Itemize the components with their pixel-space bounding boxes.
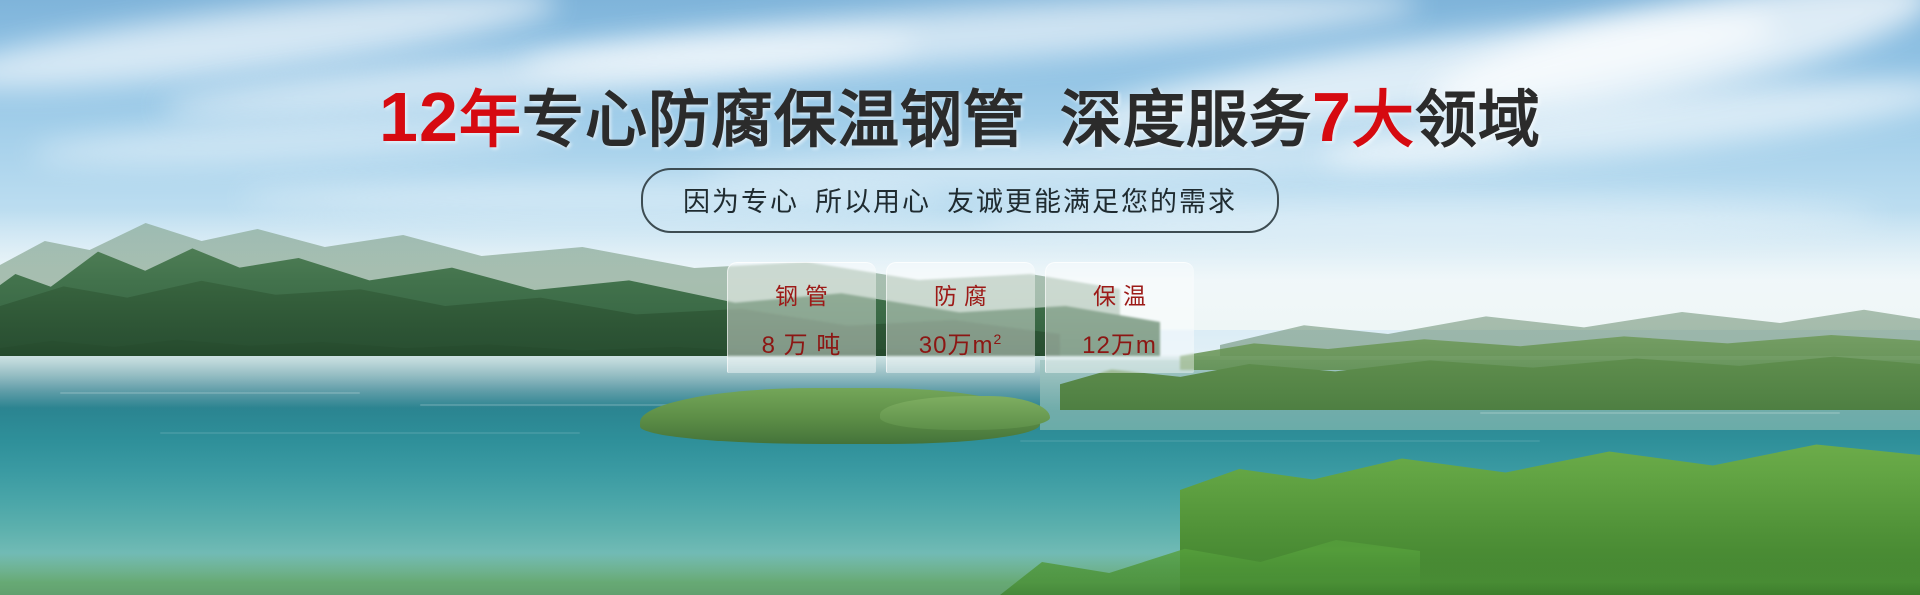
headline-fields-number: 7 — [1312, 78, 1352, 156]
stat-card-insulation: 保温 12万m — [1045, 262, 1194, 373]
headline-fields-text: 领域 — [1415, 86, 1541, 155]
headline-years-number: 12 — [379, 78, 459, 156]
stat-card-value-superscript: 2 — [993, 331, 1002, 347]
headline-years-unit: 年 — [459, 86, 522, 155]
headline-service-text: 深度服务 — [1060, 86, 1312, 155]
stat-card-label: 钢管 — [768, 277, 835, 311]
stat-card-value: 12万m — [1082, 325, 1157, 360]
stat-card-value-text: 30万m — [919, 332, 994, 359]
stat-card-label: 防腐 — [927, 277, 994, 311]
subtitle-part-2: 所以用心 — [815, 187, 931, 217]
stat-cards: 钢管 8 万 吨 防腐 30万m2 保温 12万m — [0, 262, 1920, 373]
subtitle-part-3: 友诚更能满足您的需求 — [947, 187, 1237, 217]
stat-card-value-text: 12万m — [1082, 332, 1157, 359]
headline: 12年专心防腐保温钢管深度服务7大领域 — [0, 82, 1920, 152]
stat-card-steel-pipe: 钢管 8 万 吨 — [727, 262, 876, 373]
stat-card-value-text: 8 万 吨 — [762, 332, 842, 359]
stat-card-label: 保温 — [1086, 277, 1153, 311]
subtitle-pill: 因为专心所以用心友诚更能满足您的需求 — [641, 168, 1279, 233]
subtitle-part-1: 因为专心 — [683, 187, 799, 217]
stat-card-anticorrosion: 防腐 30万m2 — [886, 262, 1035, 373]
headline-main-text: 专心防腐保温钢管 — [522, 86, 1026, 155]
stat-card-value: 30万m2 — [919, 325, 1002, 360]
subtitle-container: 因为专心所以用心友诚更能满足您的需求 — [0, 168, 1920, 233]
stat-card-value: 8 万 吨 — [762, 325, 842, 360]
banner-content: 12年专心防腐保温钢管深度服务7大领域 因为专心所以用心友诚更能满足您的需求 钢… — [0, 0, 1920, 595]
headline-fields-unit: 大 — [1352, 86, 1415, 155]
hero-banner: 12年专心防腐保温钢管深度服务7大领域 因为专心所以用心友诚更能满足您的需求 钢… — [0, 0, 1920, 595]
